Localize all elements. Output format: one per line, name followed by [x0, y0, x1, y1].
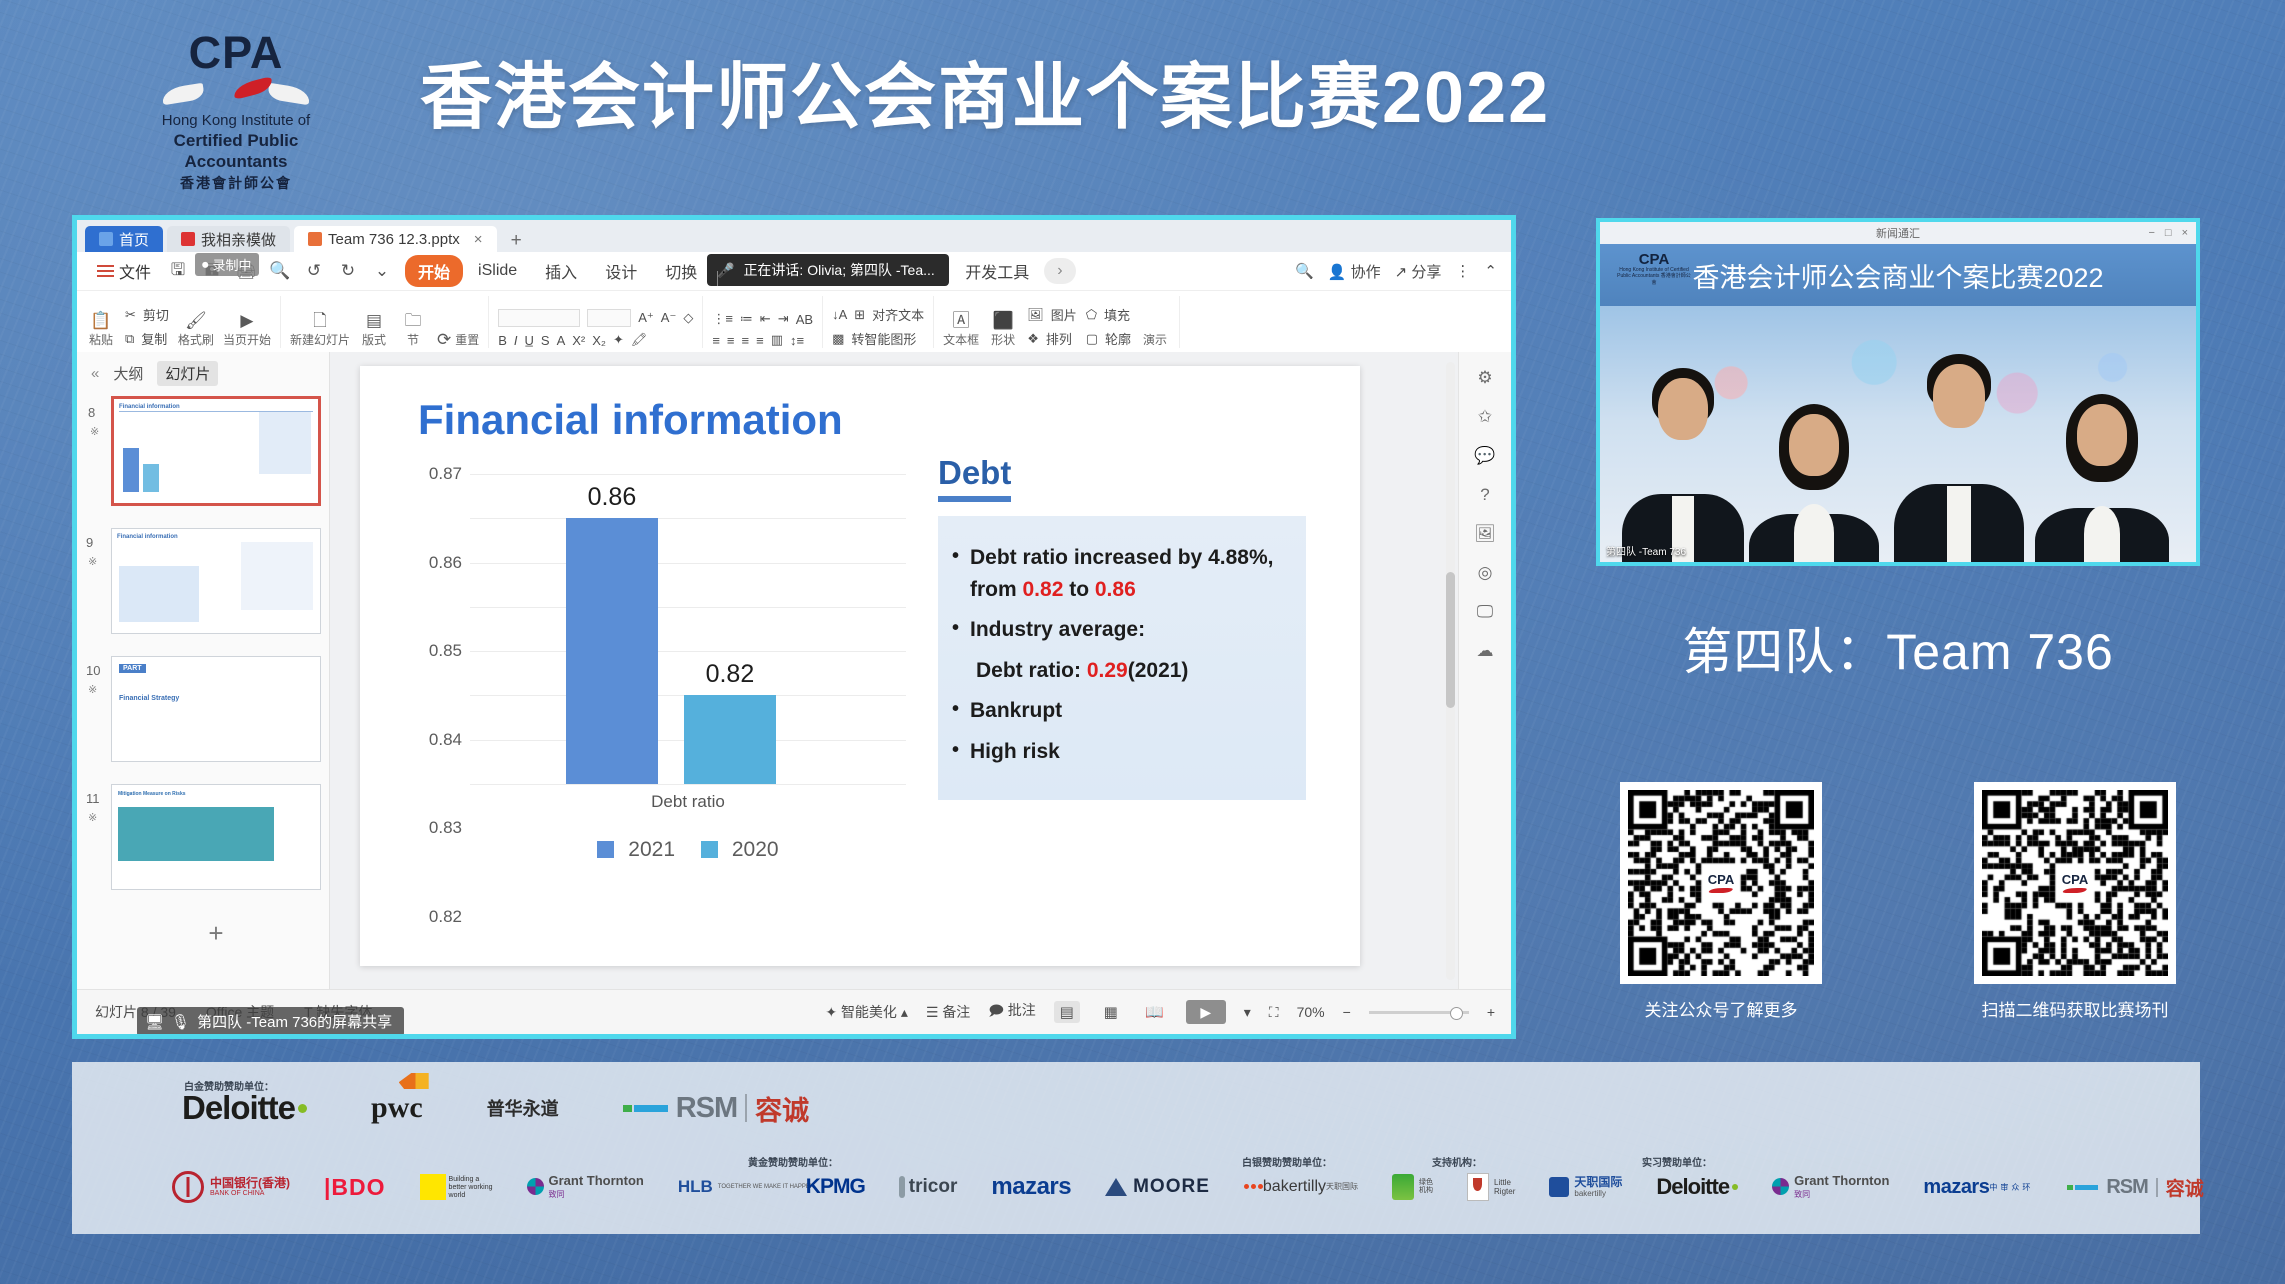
scissors-icon: ✂ [125, 307, 136, 323]
save-icon[interactable]: 🖫 [165, 259, 191, 283]
canvas-scrollbar[interactable] [1446, 362, 1455, 980]
decrease-font-icon[interactable]: A⁻ [661, 310, 677, 326]
ribbon-group-clipboard: 📋 粘贴 ✂ 剪切 ⧉ 复制 🖌 [77, 296, 281, 348]
comment-icon[interactable]: 💬 [1474, 446, 1495, 466]
broadcast-stage: CPA Hong Kong Institute of Certified Pub… [0, 0, 2285, 1284]
slide-thumbnail-11[interactable]: 11 ※ Mitigation Measure on Risks [111, 784, 321, 890]
logo-green-sponsor: 绿色机构 [1392, 1174, 1433, 1200]
decrease-indent-icon[interactable]: ⇤ [760, 311, 771, 327]
fit-to-window-icon[interactable]: ⛶ [1269, 1004, 1279, 1021]
powerpoint-app: 首页 我相亲模做 Team 736 12.3.pptx × + 文件 [77, 220, 1511, 1034]
share-button[interactable]: ↗ 分享 [1395, 261, 1442, 282]
cut-button[interactable]: ✂ 剪切 [125, 305, 169, 324]
legend-swatch-2021 [597, 841, 614, 858]
smartart-icon: ▩ [832, 331, 844, 347]
sort-icon[interactable]: ↓A [832, 307, 847, 322]
powerpoint-icon [308, 232, 322, 246]
ribbon-overflow-icon[interactable]: › [1044, 258, 1075, 284]
logo-hlb: HLBTOGETHER WE MAKE IT HAPPEN [678, 1177, 772, 1197]
help-icon[interactable]: ? [1480, 485, 1489, 505]
slide-thumbnail-9[interactable]: 9 ※ Financial information [111, 528, 321, 634]
logo-grant-thornton: Grant Thornton致同 [527, 1174, 644, 1199]
layout-icon: ▤ [366, 312, 382, 329]
pin-icon: ※ [88, 811, 97, 824]
ribbon-tab-bar: 文件 ⏺ 录制中 🖫 🖬 🖨 🔍 ↺ ↻ ⌄ 开始 iSlide 插入 设计 [77, 252, 1511, 291]
columns-icon[interactable]: ▥ [771, 332, 783, 348]
legend-item-2021: 2021 [597, 838, 675, 862]
cpa-logo-word: CPA [136, 30, 336, 75]
qr-center-logo: CPA [2057, 870, 2093, 896]
tab-app[interactable]: 我相亲模做 [167, 226, 290, 252]
normal-view-icon[interactable]: ▤ [1054, 1001, 1080, 1023]
chart-y-tick: 0.85 [429, 641, 462, 661]
collab-button[interactable]: 👤 协作 [1328, 261, 1381, 282]
ribbon-tab-developer[interactable]: 开发工具 [952, 255, 1042, 287]
chart-y-tick: 0.84 [429, 730, 462, 750]
tab-slides[interactable]: 幻灯片 [157, 361, 218, 386]
ribbon-right-actions: 🔍 👤 协作 ↗ 分享 ⋮ ⌃ [1295, 261, 1511, 282]
slide-title: Financial information [418, 396, 843, 444]
textbox-icon: 🄰 [953, 312, 970, 329]
logo-bdo: |BDO [324, 1174, 386, 1201]
cloud-icon[interactable]: ☁ [1477, 641, 1494, 661]
zoom-slider[interactable] [1369, 1011, 1469, 1014]
search-icon[interactable]: 🔍 [1295, 262, 1314, 280]
chart-gridline: 0.86 [470, 518, 906, 519]
logo-pwc-cn: 普华永道 [487, 1095, 559, 1121]
reading-view-icon[interactable]: 📖 [1142, 1001, 1168, 1023]
new-slide-button[interactable]: 🗋 新建幻灯片 [290, 312, 350, 348]
slide-thumbnail-10[interactable]: 10 ※ PART Financial Strategy [111, 656, 321, 762]
zoom-level[interactable]: 70% [1297, 1004, 1325, 1020]
right-tool-rail: ⚙ ✩ 💬 ? 🖼 ◎ 🖵 ☁ [1458, 352, 1511, 990]
copy-icon: ⧉ [125, 331, 134, 347]
slide-sorter-icon[interactable]: ▦ [1098, 1001, 1124, 1023]
qr-center-logo: CPA [1703, 870, 1739, 896]
justify-icon[interactable]: ≡ [756, 333, 764, 348]
logo-tianzhi: 天职国际bakertilly [1549, 1176, 1622, 1198]
font-size-select[interactable] [587, 309, 631, 327]
cpa-logo-line1: Hong Kong Institute of [136, 112, 336, 130]
tab-outline[interactable]: 大纲 [113, 363, 143, 384]
presenter-2 [1746, 382, 1882, 562]
logo-kpmg: KPMG [806, 1175, 865, 1199]
bullet-bankrupt: Bankrupt [970, 695, 1292, 727]
start-from-page-button[interactable]: ▶ 当页开始 [223, 312, 271, 348]
shapes-icon: ⬛ [993, 312, 1014, 329]
video-banner-title: 香港会计师公会商业个案比赛2022 [1692, 256, 2103, 295]
customize-toolbar-icon[interactable]: ⌄ [369, 259, 395, 283]
legend-item-2020: 2020 [701, 838, 779, 862]
chart-gridline: 0.84 [470, 607, 906, 608]
section-button[interactable]: 🗀 节 [398, 312, 428, 348]
outline-button[interactable]: ▢ 轮廓 [1086, 329, 1131, 348]
qr-code-brochure[interactable]: CPA [1974, 782, 2176, 984]
textbox-button[interactable]: 🄰 文本框 [943, 312, 979, 348]
image-icon[interactable]: 🖼 [1474, 524, 1496, 544]
app-icon [181, 232, 195, 246]
new-tab-button[interactable]: + [511, 230, 522, 252]
play-circle-icon: ▶ [240, 312, 253, 329]
chart-gridline: 0.87 [470, 474, 906, 475]
debt-bullet-card: Debt ratio increased by 4.88%, from 0.82… [938, 516, 1306, 800]
notes-button[interactable]: ☰ 备注 [926, 1002, 970, 1022]
pin-icon: ※ [88, 683, 97, 696]
align-left-icon[interactable]: ≡ [712, 333, 720, 348]
collapse-ribbon-icon[interactable]: ⌃ [1484, 262, 1497, 280]
sponsor-row-2: 中国银行(香港)BANK OF CHINA |BDO Building abet… [72, 1150, 2200, 1224]
close-tab-icon[interactable]: × [474, 231, 483, 248]
ribbon-tab-islide[interactable]: iSlide [465, 258, 530, 284]
outline-icon: ▢ [1086, 331, 1098, 347]
microphone-icon: 🎙 [171, 1013, 190, 1031]
new-slide-icon: 🗋 [313, 312, 327, 329]
chart-y-tick: 0.82 [429, 907, 462, 927]
notes-icon: ☰ [926, 1004, 939, 1020]
picture-button[interactable]: 🖼 图片 [1027, 305, 1077, 324]
slide-thumbnail-8[interactable]: 8 ※ Financial information [111, 396, 321, 506]
underline-icon[interactable]: U̲ [525, 333, 534, 348]
ribbon-tab-start[interactable]: 开始 [405, 255, 463, 287]
debt-textbox[interactable]: Debt Debt ratio increased by 4.88%, from… [938, 454, 1306, 800]
sponsor-row-1: Deloitte pwc 普华永道 RSM容诚 [72, 1072, 2200, 1144]
qr-block-wechat: CPA 关注公众号了解更多 [1596, 782, 1846, 1021]
page-title: 香港会计师公会商业个案比赛2022 [420, 38, 1550, 143]
logo-pwc: pwc [371, 1091, 423, 1125]
comments-button[interactable]: 🗩 批注 [988, 1000, 1035, 1024]
reset-icon: ⟳ [437, 331, 451, 348]
copy-button[interactable]: ⧉ 复制 [125, 329, 169, 348]
ribbon-tab-design[interactable]: 设计 [592, 255, 650, 287]
more-options-icon[interactable]: ⋮ [1455, 262, 1470, 280]
chart-bar-2020: 0.82 [684, 695, 776, 784]
chart-gridline: 0.85 [470, 563, 906, 564]
chart-gridline: 0.83 [470, 651, 906, 652]
undo-icon[interactable]: ↺ [301, 259, 327, 283]
qr-section: CPA 关注公众号了解更多 CPA 扫描二维码获取比赛场刊 [1596, 782, 2200, 1021]
cpa-logo-line2: Certified Public Accountants [136, 130, 336, 173]
collab-icon: 👤 [1328, 264, 1347, 281]
logo-wine-sponsor: LittleRigter [1467, 1173, 1515, 1201]
logo-mazars-2: mazars中审众环 [1923, 1176, 2033, 1199]
numbered-list-icon[interactable]: ≔ [740, 311, 753, 327]
align-center-icon[interactable]: ≡ [727, 333, 735, 348]
video-window-title: 新闻通汇 [1876, 225, 1920, 241]
collapse-panel-icon[interactable]: « [91, 365, 99, 382]
presenter-1 [1620, 362, 1746, 562]
ribbon-group-font: A⁺ A⁻ ◇ B I U̲ S A X² X₂ ✦ [489, 296, 703, 348]
line-spacing-icon[interactable]: ↕≡ [790, 333, 804, 348]
slide-canvas: Financial information 0.870.860.850.840.… [330, 352, 1511, 990]
settings-icon[interactable]: ⚙ [1477, 368, 1492, 388]
bullet-high-risk: High risk [970, 736, 1292, 768]
cpa-logo: CPA Hong Kong Institute of Certified Pub… [136, 30, 336, 193]
chart-plot-area: 0.870.860.850.840.830.820.810.80.860.82 [470, 474, 906, 785]
app-tab-bar: 首页 我相亲模做 Team 736 12.3.pptx × + [77, 220, 1511, 252]
video-stage: CPA Hong Kong Institute of Certified Pub… [1600, 244, 2196, 562]
beautify-icon: ✦ [825, 1004, 837, 1020]
chart-y-tick: 0.86 [429, 553, 462, 573]
chart-legend: 2021 2020 [470, 838, 906, 862]
text-shadow-icon[interactable]: A [557, 333, 566, 348]
chart-y-tick: 0.87 [429, 464, 462, 484]
debt-ratio-chart[interactable]: 0.870.860.850.840.830.820.810.80.860.82 … [396, 466, 916, 886]
ribbon-tab-insert[interactable]: 插入 [532, 255, 590, 287]
video-banner: CPA Hong Kong Institute of Certified Pub… [1600, 244, 2196, 306]
text-direction-icon[interactable]: AB [796, 312, 813, 327]
logo-rsm: RSM容诚 [623, 1089, 809, 1128]
arrange-icon: ❖ [1027, 331, 1039, 347]
chart-bar-label: 0.82 [706, 660, 755, 689]
clear-format-icon[interactable]: ◇ [683, 310, 693, 326]
tab-presentation[interactable]: Team 736 12.3.pptx × [294, 226, 497, 252]
bullet-debt-ratio-increase: Debt ratio increased by 4.88%, from 0.82… [970, 542, 1292, 605]
add-slide-button[interactable]: + [111, 912, 321, 949]
maximize-icon[interactable]: □ [2165, 227, 2172, 239]
italic-icon[interactable]: I [514, 333, 518, 348]
debt-heading: Debt [938, 454, 1011, 502]
hamburger-icon [97, 262, 114, 280]
paste-icon: 📋 [90, 312, 111, 329]
presentation-icon[interactable]: 🖵 [1477, 602, 1493, 622]
recording-badge: ⏺ 录制中 [195, 253, 259, 276]
logo-grant-thornton-2: Grant Thornton致同 [1772, 1174, 1889, 1199]
pin-icon: ※ [88, 555, 97, 568]
section-icon: 🗀 [404, 312, 421, 329]
bullet-industry-debt-ratio: Debt ratio: 0.29(2021) [976, 655, 1292, 687]
share-icon: ↗ [1395, 264, 1408, 281]
ribbon-group-text-align: ↓A ⊞ 对齐文本 ▩ 转智能图形 [823, 296, 934, 348]
sponsor-strip: 白金赞助赞助单位： Deloitte pwc 普华永道 RSM容诚 黄金赞助赞助… [72, 1062, 2200, 1234]
print-preview-icon[interactable]: 🔍 [267, 259, 293, 283]
play-options-icon[interactable]: ▾ [1244, 1004, 1251, 1021]
zoom-out-button[interactable]: − [1343, 1004, 1351, 1020]
video-name-tag: 第四队 -Team 736 [1606, 543, 1686, 558]
superscript-icon[interactable]: X² [572, 333, 585, 348]
shape-button[interactable]: ⬛ 形状 [988, 312, 1018, 348]
presenter-4 [2032, 376, 2172, 562]
logo-mazars: mazars [991, 1173, 1071, 1201]
subscript-icon[interactable]: X₂ [592, 333, 606, 348]
home-icon [99, 232, 113, 246]
picture-icon: 🖼 [1027, 307, 1044, 323]
ribbon-group-paragraph: ⋮≡ ≔ ⇤ ⇥ AB ≡ ≡ ≡ ≡ ▥ ↕≡ [703, 296, 823, 348]
align-text-icon: ⊞ [854, 307, 865, 323]
font-family-select[interactable] [498, 309, 580, 327]
bullet-industry-average: Industry average: [970, 614, 1292, 646]
monitor-icon: 🖥 [145, 1013, 164, 1031]
align-right-icon[interactable]: ≡ [742, 333, 750, 348]
chart-gridline: 0.8 [470, 784, 906, 785]
slide-panel-tabs: « 大纲 幻灯片 [77, 352, 329, 394]
arrange-button[interactable]: ❖ 排列 [1027, 329, 1077, 348]
format-painter-button[interactable]: 🖌 格式刷 [178, 312, 214, 348]
bullet-list-icon[interactable]: ⋮≡ [712, 311, 733, 327]
current-slide[interactable]: Financial information 0.870.860.850.840.… [360, 366, 1360, 966]
speaking-notice: 🎤 正在讲话: Olivia; 第四队 -Tea... [707, 254, 949, 286]
star-icon[interactable]: ✩ [1478, 407, 1492, 427]
presenter-3 [1892, 352, 2026, 562]
layout-button[interactable]: ▤ 版式 [359, 312, 389, 348]
cpa-logo-line3: 香港會計師公會 [136, 173, 336, 193]
ribbon-group-insert: 🄰 文本框 ⬛ 形状 🖼 图片 ❖ 排列 [934, 296, 1180, 348]
redo-icon[interactable]: ↻ [335, 259, 361, 283]
text-effects-icon[interactable]: ✦ [613, 332, 624, 348]
logo-deloitte-2: Deloitte [1656, 1174, 1738, 1200]
team-label: 第四队：Team 736 [1596, 612, 2200, 684]
increase-font-icon[interactable]: A⁺ [638, 310, 654, 326]
logo-deloitte: Deloitte [182, 1089, 307, 1127]
chart-x-axis-label: Debt ratio [470, 792, 906, 812]
present-button[interactable]: 演示 [1140, 331, 1170, 348]
slide-panel: « 大纲 幻灯片 8 ※ Financial information [77, 352, 330, 990]
increase-indent-icon[interactable]: ⇥ [778, 311, 789, 327]
video-panel: 新闻通汇 − □ × CPA Hong Kong Institute of Ce… [1596, 218, 2200, 566]
logo-rsm-2: RSM容诚 [2067, 1174, 2203, 1201]
microphone-icon: 🎤 [717, 262, 734, 279]
screen-share-window: 首页 我相亲模做 Team 736 12.3.pptx × + 文件 [72, 215, 1516, 1039]
qr-code-wechat[interactable]: CPA [1620, 782, 1822, 984]
qr-caption-wechat: 关注公众号了解更多 [1596, 996, 1846, 1021]
logo-moore: MOORE [1105, 1176, 1210, 1198]
minimize-icon[interactable]: − [2148, 227, 2154, 239]
screen-share-tag: 🖥 🎙 第四队 -Team 736的屏幕共享 [137, 1007, 404, 1036]
highlight-icon[interactable]: 🖍 [631, 332, 648, 348]
slideshow-play-button[interactable]: ▶ [1186, 1000, 1226, 1024]
logo-bakertilly: bakertilly天职国际 [1244, 1178, 1358, 1196]
legend-swatch-2020 [701, 841, 718, 858]
record-dot-icon: ⏺ [202, 257, 209, 273]
logo-bank-of-china: 中国银行(香港)BANK OF CHINA [172, 1171, 290, 1203]
video-cpa-logo: CPA Hong Kong Institute of Certified Pub… [1616, 252, 1692, 286]
ribbon-group-slides: 🗋 新建幻灯片 ▤ 版式 🗀 节 ⟳ 重置 [281, 296, 489, 348]
strikethrough-icon[interactable]: S [541, 333, 550, 348]
logo-tricor: tricor [899, 1176, 958, 1198]
paste-button[interactable]: 📋 粘贴 [86, 312, 116, 348]
beautify-button[interactable]: ✦ 智能美化 ▴ [825, 1002, 908, 1022]
slide-thumbnails: 8 ※ Financial information 9 ※ [77, 394, 329, 949]
bold-icon[interactable]: B [498, 333, 507, 348]
chart-bar-2021: 0.86 [566, 518, 658, 784]
ribbon-toolbar: 📋 粘贴 ✂ 剪切 ⧉ 复制 🖌 [77, 291, 1511, 354]
tab-home[interactable]: 首页 [85, 226, 163, 252]
video-window-titlebar: 新闻通汇 − □ × [1600, 222, 2196, 244]
ribbon-tab-transition[interactable]: 切换 [652, 255, 710, 287]
qr-caption-brochure: 扫描二维码获取比赛场刊 [1950, 996, 2200, 1021]
pin-icon: ※ [90, 425, 99, 438]
qr-block-brochure: CPA 扫描二维码获取比赛场刊 [1950, 782, 2200, 1021]
app-body: « 大纲 幻灯片 8 ※ Financial information [77, 352, 1511, 990]
reset-button[interactable]: ⟳ 重置 [437, 331, 479, 348]
file-menu-button[interactable]: 文件 [87, 257, 161, 285]
cpa-logo-mark [136, 78, 336, 108]
target-icon[interactable]: ◎ [1478, 563, 1493, 583]
fill-icon: ⬠ [1086, 307, 1097, 323]
chart-y-tick: 0.83 [429, 818, 462, 838]
chart-bar-label: 0.86 [588, 483, 637, 512]
logo-ey: Building abetter workingworld [420, 1174, 493, 1200]
zoom-in-button[interactable]: + [1487, 1004, 1495, 1020]
fill-button[interactable]: ⬠ 填充 [1086, 305, 1131, 324]
close-icon[interactable]: × [2182, 227, 2188, 239]
comment-bubble-icon: 🗩 [988, 1002, 1004, 1018]
brush-icon: 🖌 [185, 312, 207, 329]
